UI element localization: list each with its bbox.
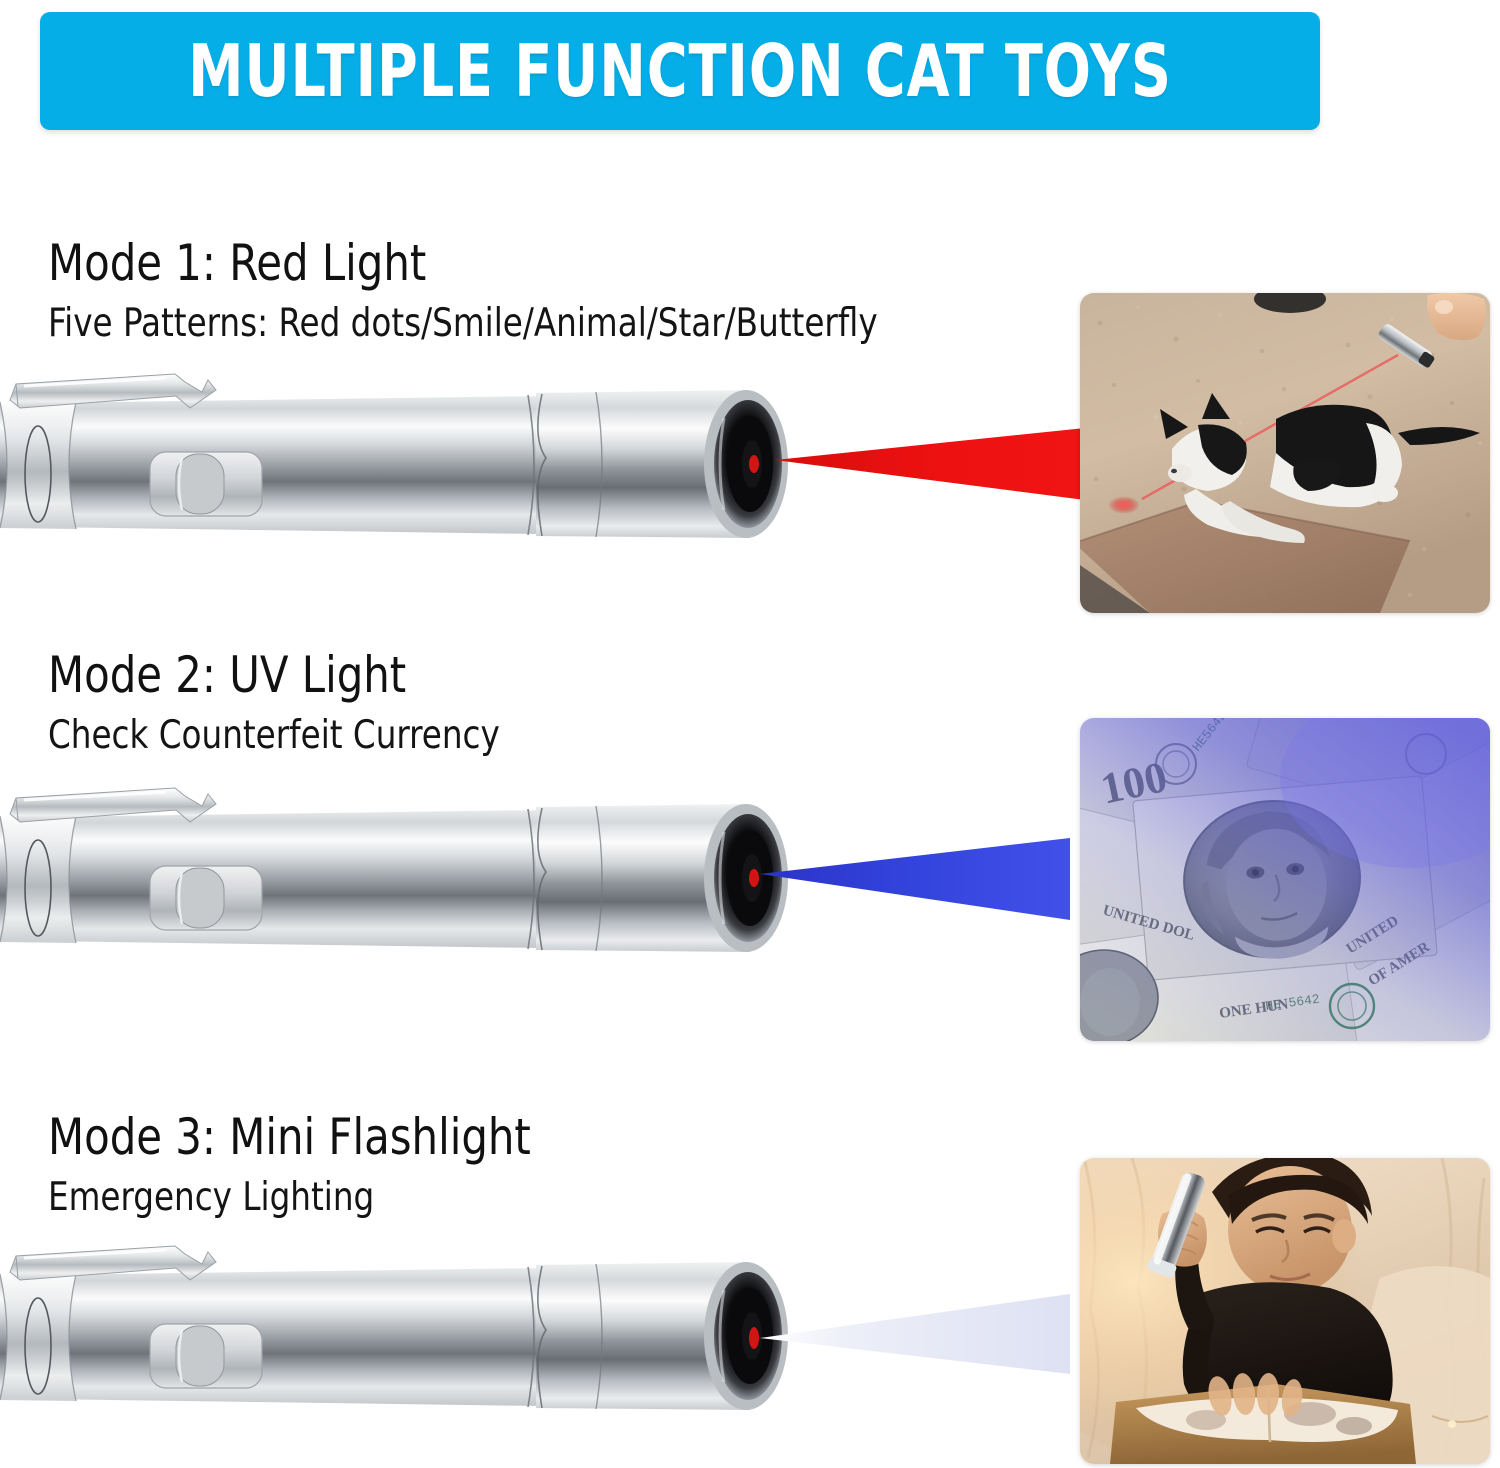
infographic-page: MULTIPLE FUNCTION CAT TOYS Mode 1: Red L… xyxy=(0,0,1500,1468)
switch-slider xyxy=(176,1326,224,1386)
red-laser-beam xyxy=(775,390,1085,540)
mode-2-subtitle: Check Counterfeit Currency xyxy=(48,716,500,755)
flashlight-svg xyxy=(0,780,810,970)
white-flashlight-beam xyxy=(760,1268,1070,1418)
flashlight-illustration-mode-1 xyxy=(0,366,810,556)
photo-boy-reading xyxy=(1080,1158,1490,1464)
flashlight-svg xyxy=(0,1238,810,1428)
laser-dot xyxy=(1108,496,1140,514)
flashlight-svg xyxy=(0,366,810,556)
collar-band xyxy=(0,402,76,529)
boy-photo-svg xyxy=(1080,1158,1490,1464)
cat-nose xyxy=(1171,469,1177,473)
money-photo-svg: 100 HE56429542D HE 5642 UNITED OF AMER xyxy=(1080,718,1490,1041)
red-beam-svg xyxy=(775,390,1085,540)
collar-band xyxy=(0,816,76,943)
mode-section-uv-light: Mode 2: UV Light Check Counterfeit Curre… xyxy=(0,640,1500,1095)
switch-slider xyxy=(176,454,224,514)
red-led-emitter xyxy=(749,869,759,887)
cat-back-paw xyxy=(1370,484,1398,502)
fingernail xyxy=(1435,300,1453,314)
photo-cat-laser xyxy=(1080,293,1490,613)
flashlight-illustration-mode-3 xyxy=(0,1238,810,1428)
pen-barrel xyxy=(0,810,540,948)
header-banner: MULTIPLE FUNCTION CAT TOYS xyxy=(40,12,1320,130)
collar-band xyxy=(0,1274,76,1401)
cat-photo-svg xyxy=(1080,293,1490,613)
mode-2-heading: Mode 2: UV Light xyxy=(48,650,406,700)
uv-beam-svg xyxy=(760,808,1070,958)
red-beam-cone xyxy=(775,428,1085,500)
white-beam-cone xyxy=(760,1294,1070,1374)
switch-slider xyxy=(176,868,224,928)
uv-blue-beam xyxy=(760,808,1070,958)
red-led-emitter xyxy=(749,1327,759,1349)
cat-muzzle xyxy=(1168,464,1192,482)
page-title: MULTIPLE FUNCTION CAT TOYS xyxy=(188,35,1172,107)
white-beam-svg xyxy=(760,1268,1070,1418)
string-light-bulb xyxy=(1448,1420,1456,1428)
mode-section-red-light: Mode 1: Red Light Five Patterns: Red dot… xyxy=(0,218,1500,638)
flashlight-illustration-mode-2 xyxy=(0,780,810,970)
photo-money-uv: 100 HE56429542D HE 5642 UNITED OF AMER xyxy=(1080,718,1490,1041)
uv-beam-cone xyxy=(760,838,1070,920)
pen-barrel xyxy=(0,396,540,534)
mode-3-heading: Mode 3: Mini Flashlight xyxy=(48,1112,531,1162)
boy-ear xyxy=(1332,1219,1356,1253)
mode-section-mini-flashlight: Mode 3: Mini Flashlight Emergency Lighti… xyxy=(0,1098,1500,1468)
mode-3-subtitle: Emergency Lighting xyxy=(48,1178,374,1217)
red-led-emitter xyxy=(749,455,759,473)
mode-1-heading: Mode 1: Red Light xyxy=(48,238,426,288)
pen-barrel xyxy=(0,1268,540,1406)
mode-1-subtitle: Five Patterns: Red dots/Smile/Animal/Sta… xyxy=(48,304,878,343)
